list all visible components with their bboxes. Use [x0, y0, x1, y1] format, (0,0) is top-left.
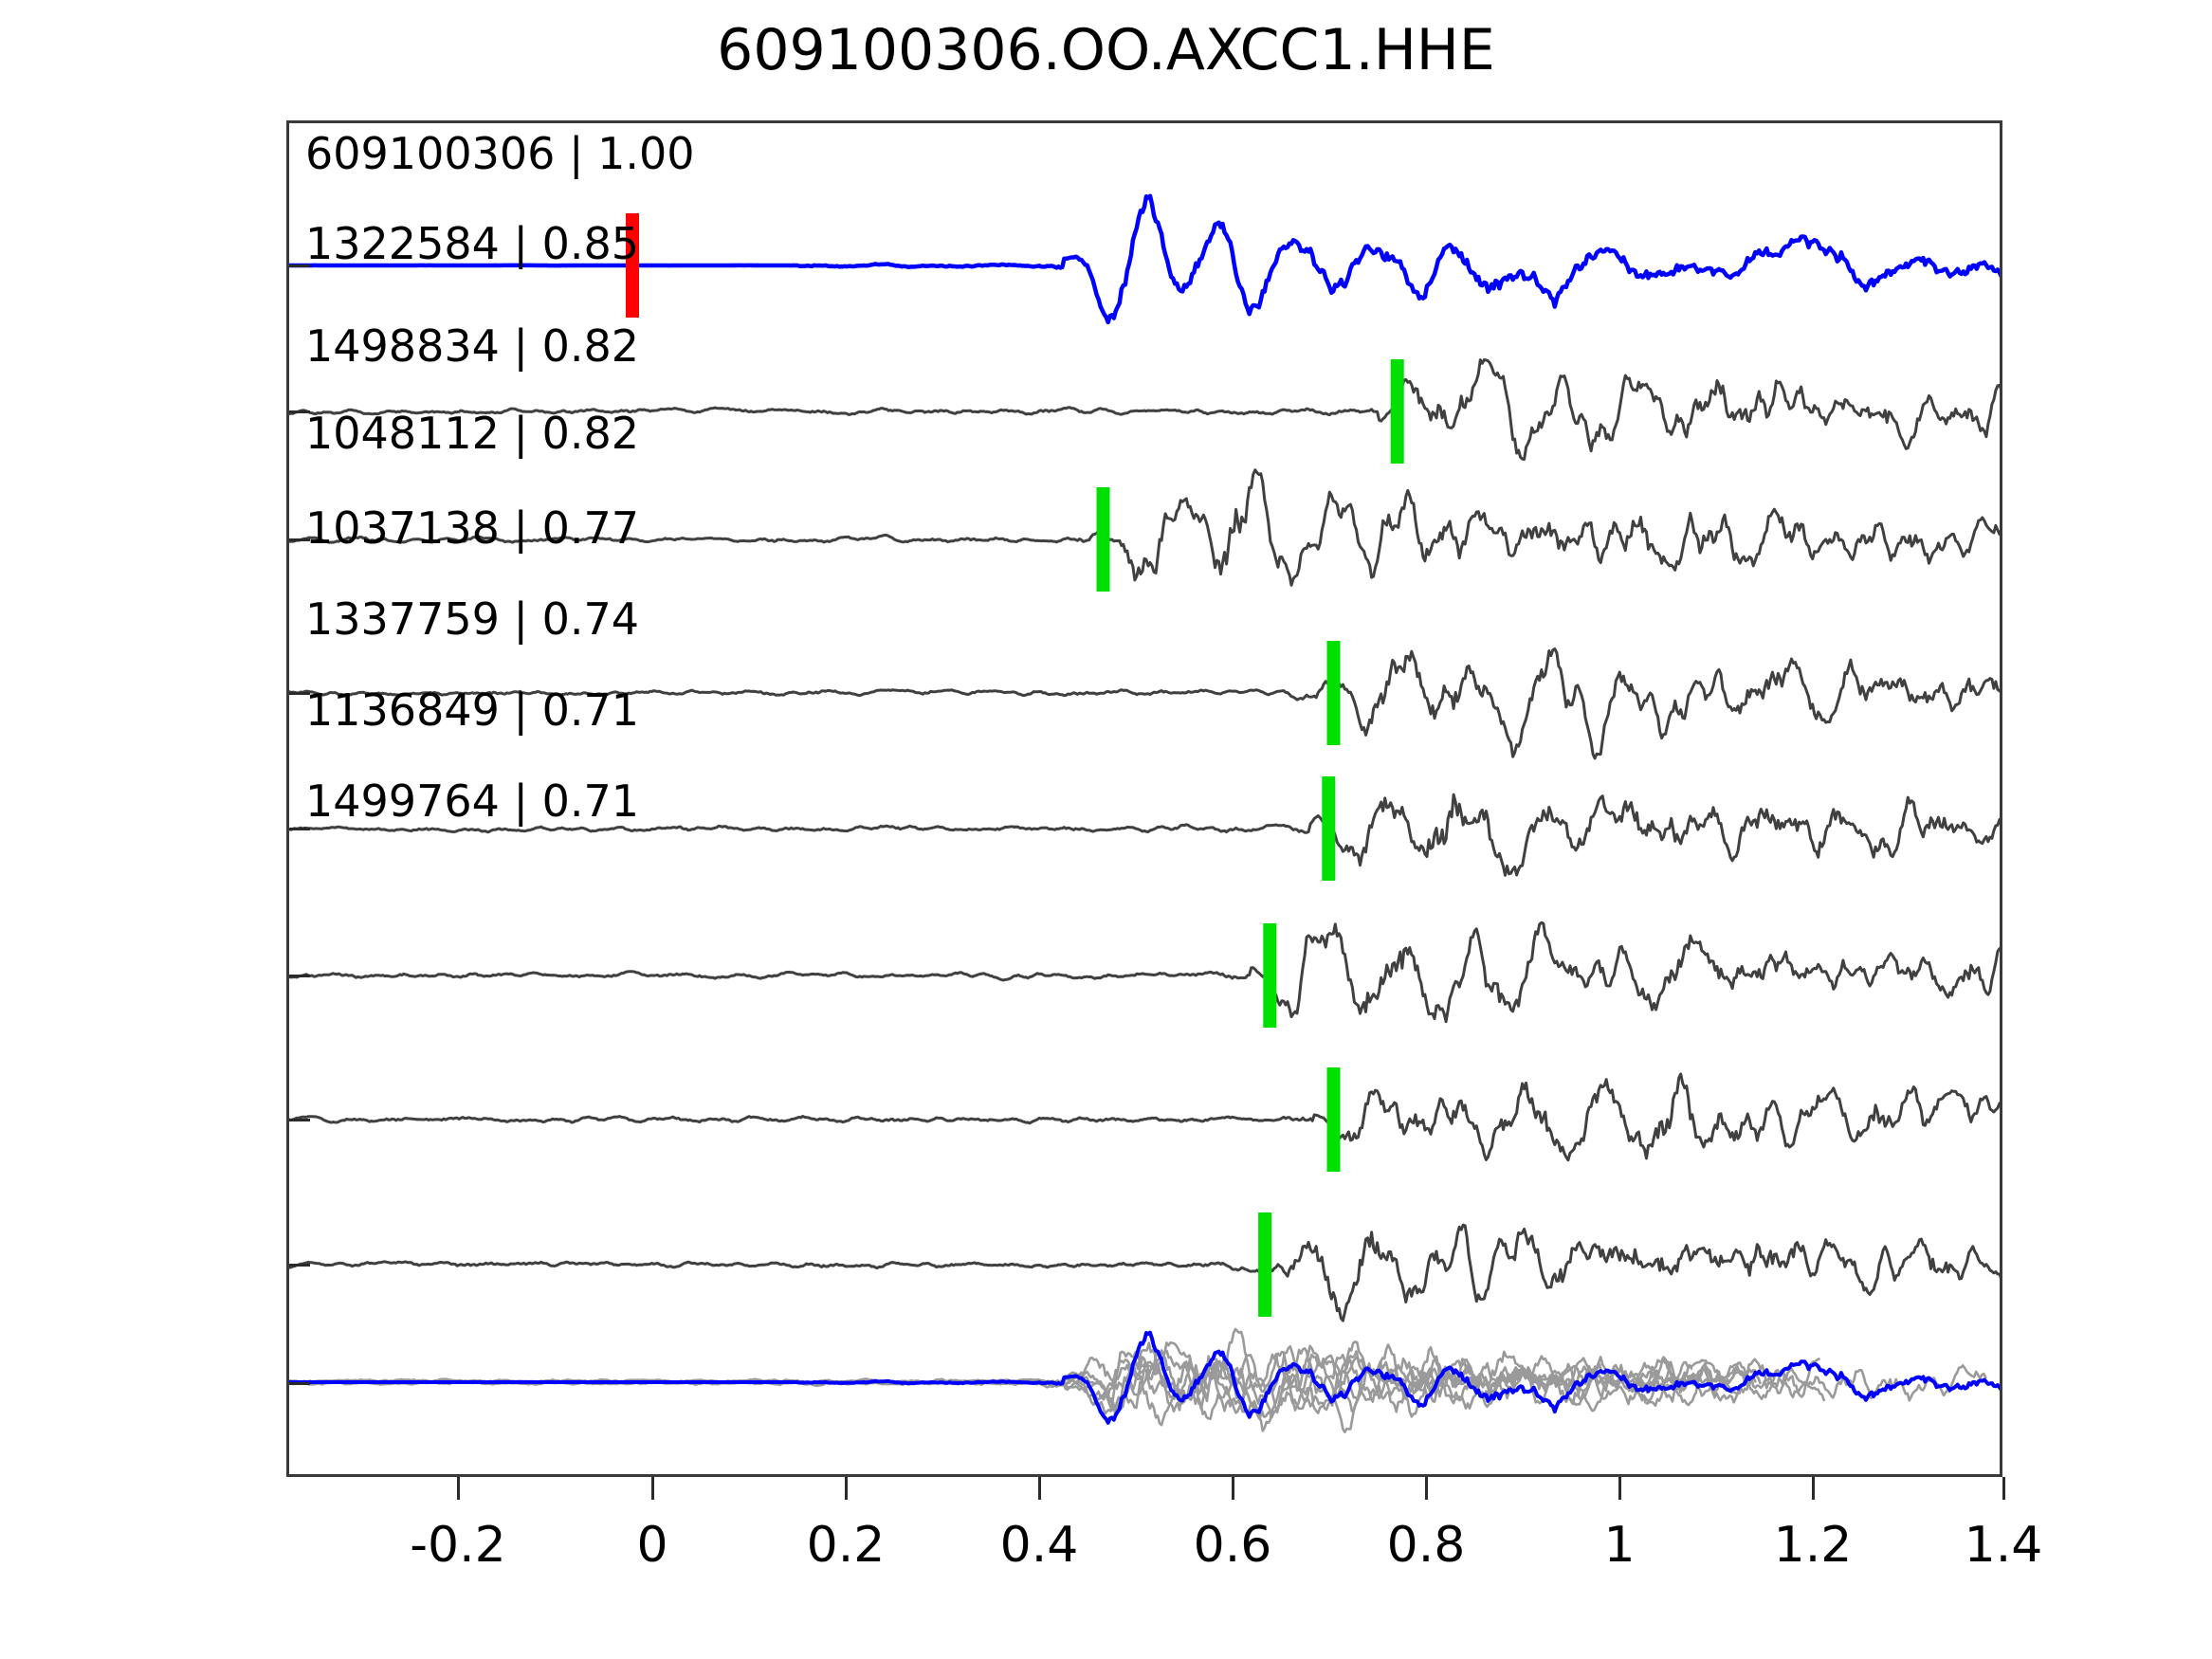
y-tick: [289, 1382, 310, 1385]
detection-pick-marker-1322584: [1391, 359, 1404, 464]
x-tick-label: 0.8: [1387, 1517, 1466, 1574]
detection-pick-marker-1037138: [1322, 776, 1335, 881]
y-tick: [289, 975, 310, 977]
x-tick-label: 1.2: [1774, 1517, 1853, 1574]
y-tick: [289, 1264, 310, 1267]
x-tick: [1812, 1477, 1815, 1500]
y-tick: [289, 1119, 310, 1121]
detection-pick-marker-1337759: [1263, 923, 1276, 1028]
detection-pick-marker-1498834: [1097, 487, 1110, 592]
x-tick: [651, 1477, 654, 1500]
seismic-waveform-figure: 609100306.OO.AXCC1.HHE 609100306 | 1.00 …: [0, 0, 2212, 1659]
detection-pick-marker-1499764: [1258, 1212, 1271, 1317]
y-tick: [289, 828, 310, 830]
trace-label-609100306: 609100306 | 1.00: [305, 128, 695, 179]
x-tick-label: -0.2: [410, 1517, 505, 1574]
trace-label-1498834: 1498834 | 0.82: [305, 320, 639, 372]
x-tick-label: 0.4: [1000, 1517, 1079, 1574]
x-tick-label: 1.4: [1965, 1517, 2043, 1574]
trace-label-1499764: 1499764 | 0.71: [305, 775, 639, 827]
detection-pick-marker-1048112: [1327, 641, 1341, 745]
x-tick-label: 1: [1603, 1517, 1635, 1574]
x-tick-label: 0: [636, 1517, 667, 1574]
trace-label-1136849: 1136849 | 0.71: [305, 684, 639, 736]
trace-label-1322584: 1322584 | 0.85: [305, 218, 639, 269]
x-tick: [457, 1477, 460, 1500]
trace-label-1048112: 1048112 | 0.82: [305, 408, 639, 459]
x-tick: [1618, 1477, 1621, 1500]
x-tick-label: 0.6: [1194, 1517, 1272, 1574]
x-tick: [2002, 1477, 2005, 1500]
x-tick: [1038, 1477, 1041, 1500]
x-tick: [845, 1477, 848, 1500]
detection-pick-marker-1136849: [1327, 1067, 1341, 1172]
trace-label-1037138: 1037138 | 0.77: [305, 502, 639, 554]
x-tick-label: 0.2: [807, 1517, 886, 1574]
trace-label-1337759: 1337759 | 0.74: [305, 593, 639, 645]
page-title: 609100306.OO.AXCC1.HHE: [0, 17, 2212, 83]
x-tick: [1425, 1477, 1428, 1500]
x-tick: [1232, 1477, 1234, 1500]
